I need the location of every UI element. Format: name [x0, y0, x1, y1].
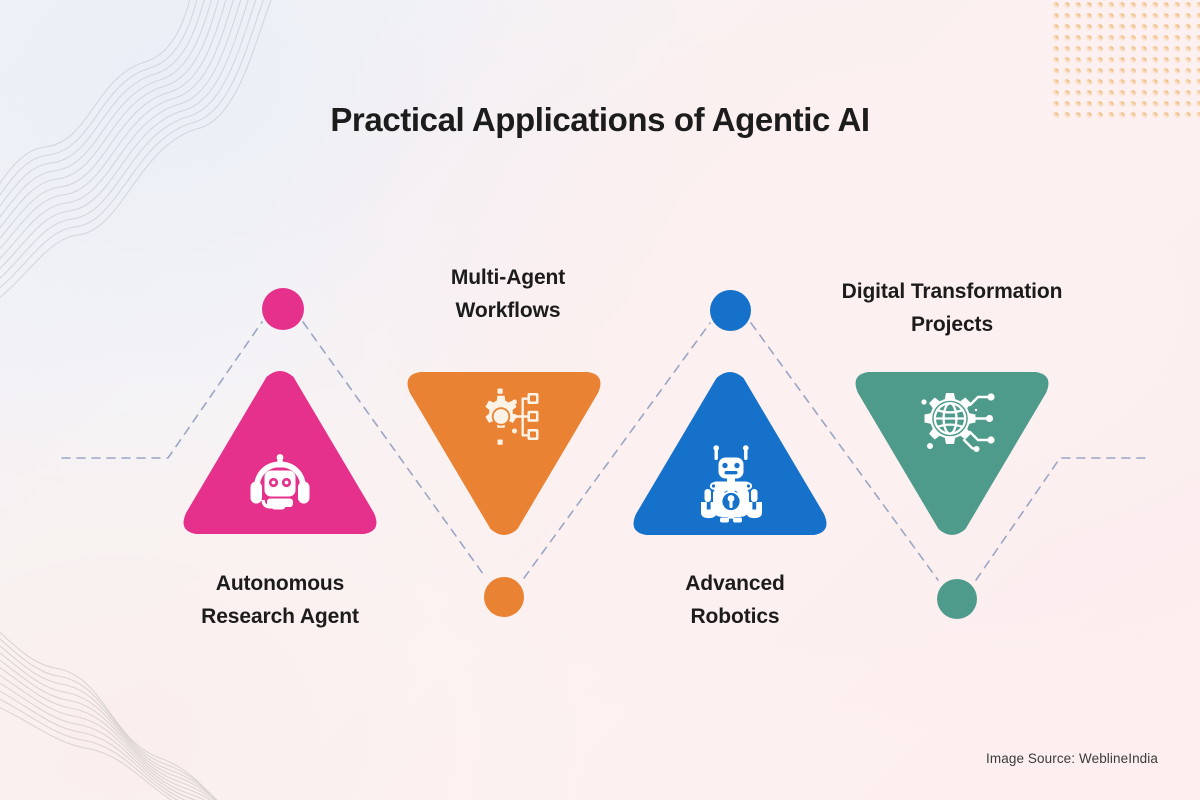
image-source-credit: Image Source: WeblineIndia [986, 751, 1158, 766]
gear-workflow-icon [468, 386, 540, 452]
node-label-advanced-robotics: Advanced Robotics [585, 568, 885, 633]
node-dot-digital-transformation-projects [937, 579, 977, 619]
gear-globe-circuit-icon [906, 389, 998, 467]
robot-headset-icon [245, 448, 315, 514]
label-line-1: Advanced [685, 572, 785, 595]
label-line-2: Research Agent [201, 605, 359, 628]
node-label-autonomous-research-agent: Autonomous Research Agent [130, 568, 430, 633]
label-line-1: Digital Transformation [842, 280, 1063, 303]
node-dot-autonomous-research-agent [262, 288, 304, 330]
node-label-multi-agent-workflows: Multi-Agent Workflows [358, 262, 658, 327]
label-line-1: Autonomous [216, 572, 344, 595]
node-dot-multi-agent-workflows [484, 577, 524, 617]
robot-body-icon [698, 445, 764, 525]
node-label-digital-transformation-projects: Digital Transformation Projects [802, 276, 1102, 341]
node-dot-advanced-robotics [710, 290, 751, 331]
label-line-2: Workflows [456, 299, 561, 322]
label-line-2: Robotics [690, 605, 779, 628]
infographic-canvas: Practical Applications of Agentic AI [0, 0, 1200, 800]
label-line-2: Projects [911, 313, 993, 336]
label-line-1: Multi-Agent [451, 266, 565, 289]
